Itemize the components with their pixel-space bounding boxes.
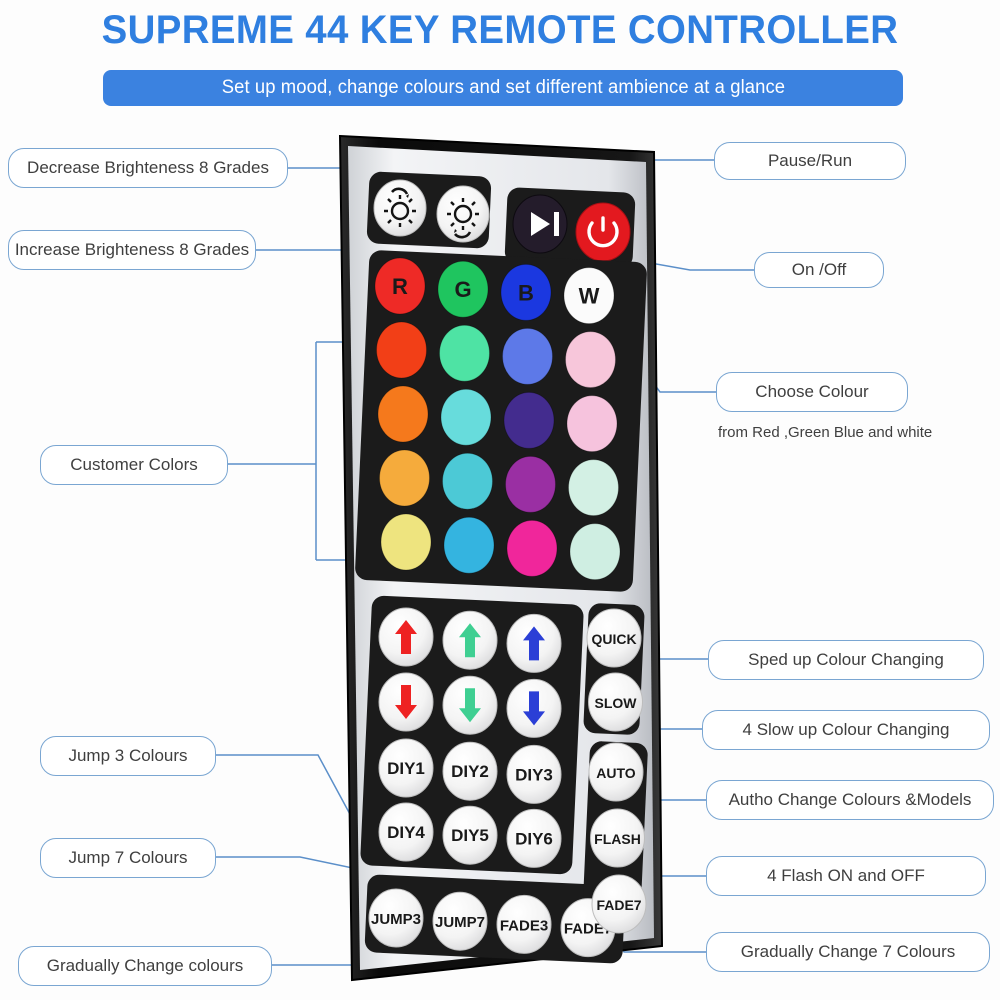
key-label: FLASH: [594, 831, 641, 847]
key-label: SLOW: [595, 695, 638, 711]
key-side-flash[interactable]: FLASH: [591, 809, 645, 867]
remote-controller: RGBW DIY1DIY2DIY3DIY4DIY5DIY6JUMP3JUMP7F…: [318, 118, 678, 998]
color-key-4-2[interactable]: [507, 520, 557, 576]
key-label: FADE3: [500, 917, 548, 934]
callout-jump-7-colours[interactable]: Jump 7 Colours: [40, 838, 216, 878]
key-side-auto[interactable]: AUTO: [589, 743, 643, 801]
key-brightness-down[interactable]: [437, 186, 489, 242]
color-key-label: W: [579, 284, 600, 309]
key-label: DIY6: [515, 829, 553, 848]
key-diy4[interactable]: DIY4: [379, 803, 433, 861]
key-slow[interactable]: SLOW: [589, 673, 643, 731]
callout-choose-colour[interactable]: Choose Colour: [716, 372, 908, 412]
color-key-1-1[interactable]: [440, 325, 490, 381]
key-quick[interactable]: QUICK: [587, 609, 641, 667]
callout-label: Gradually Change colours: [47, 956, 244, 976]
callout-label: Increase Brighteness 8 Grades: [15, 240, 249, 260]
key-down-red[interactable]: [379, 673, 433, 731]
color-key-label: B: [518, 280, 534, 305]
color-key-1-0[interactable]: [377, 322, 427, 378]
callout-increase-brightness[interactable]: Increase Brighteness 8 Grades: [8, 230, 256, 270]
color-key-3-2[interactable]: [506, 456, 556, 512]
key-diy5[interactable]: DIY5: [443, 806, 497, 864]
choose-colour-note: from Red ,Green Blue and white: [718, 424, 932, 441]
callout-label: Pause/Run: [768, 151, 852, 171]
color-key-2-3[interactable]: [567, 396, 617, 452]
callout-label: Decrease Brighteness 8 Grades: [27, 158, 269, 178]
key-label: AUTO: [596, 765, 636, 781]
callout-label: Autho Change Colours &Models: [729, 790, 972, 810]
color-key-4-0[interactable]: [381, 514, 431, 570]
callout-label: Jump 3 Colours: [68, 746, 187, 766]
page-title: SUPREME 44 KEY REMOTE CONTROLLER: [20, 8, 980, 53]
color-key-2-0[interactable]: [378, 386, 428, 442]
color-key-r[interactable]: R: [375, 258, 425, 314]
color-key-2-1[interactable]: [441, 389, 491, 445]
key-diy3[interactable]: DIY3: [507, 745, 561, 803]
key-label: FADE7: [596, 897, 641, 913]
key-down-green[interactable]: [443, 676, 497, 734]
key-label: DIY2: [451, 762, 489, 781]
color-key-1-2[interactable]: [503, 328, 553, 384]
key-side-fade7[interactable]: FADE7: [592, 875, 646, 933]
callout-auto-change[interactable]: Autho Change Colours &Models: [706, 780, 994, 820]
color-key-3-1[interactable]: [443, 453, 493, 509]
callout-label: Gradually Change 7 Colours: [741, 942, 956, 962]
callout-decrease-brightness[interactable]: Decrease Brighteness 8 Grades: [8, 148, 288, 188]
callout-label: Customer Colors: [70, 455, 198, 475]
key-diy6[interactable]: DIY6: [507, 809, 561, 867]
color-key-g[interactable]: G: [438, 261, 488, 317]
callout-label: Choose Colour: [755, 382, 868, 402]
color-key-b[interactable]: B: [501, 264, 551, 320]
key-power[interactable]: [576, 203, 630, 261]
key-label: DIY4: [387, 823, 425, 842]
callout-label: Jump 7 Colours: [68, 848, 187, 868]
key-diy1[interactable]: DIY1: [379, 739, 433, 797]
power-pad: [504, 187, 635, 269]
callout-label: Sped up Colour Changing: [748, 650, 944, 670]
callout-speed-up[interactable]: Sped up Colour Changing: [708, 640, 984, 680]
key-label: JUMP3: [371, 911, 421, 928]
callout-slow-up[interactable]: 4 Slow up Colour Changing: [702, 710, 990, 750]
subtitle-banner: Set up mood, change colours and set diff…: [103, 70, 903, 106]
key-label: DIY5: [451, 826, 489, 845]
color-key-1-3[interactable]: [566, 332, 616, 388]
key-up-red[interactable]: [379, 608, 433, 666]
key-jump3[interactable]: JUMP3: [369, 889, 423, 947]
key-diy2[interactable]: DIY2: [443, 742, 497, 800]
color-key-4-1[interactable]: [444, 517, 494, 573]
color-key-label: R: [392, 274, 408, 299]
key-up-blue[interactable]: [507, 614, 561, 672]
callout-customer-colors[interactable]: Customer Colors: [40, 445, 228, 485]
callout-gradually-7[interactable]: Gradually Change 7 Colours: [706, 932, 990, 972]
callout-on-off[interactable]: On /Off: [754, 252, 884, 288]
color-key-2-2[interactable]: [504, 392, 554, 448]
key-brightness-up[interactable]: [374, 180, 426, 236]
key-label: DIY3: [515, 765, 553, 784]
key-fade3[interactable]: FADE3: [497, 895, 551, 953]
infographic-canvas: SUPREME 44 KEY REMOTE CONTROLLER Set up …: [0, 0, 1000, 1000]
key-label: QUICK: [591, 631, 636, 647]
key-play-pause[interactable]: [513, 195, 567, 253]
callout-label: 4 Flash ON and OFF: [767, 866, 925, 886]
key-label: JUMP7: [435, 914, 485, 931]
key-up-green[interactable]: [443, 611, 497, 669]
callout-flash-on-off[interactable]: 4 Flash ON and OFF: [706, 856, 986, 896]
callout-label: On /Off: [792, 260, 847, 280]
callout-jump-3-colours[interactable]: Jump 3 Colours: [40, 736, 216, 776]
key-jump7[interactable]: JUMP7: [433, 892, 487, 950]
callout-gradually-change-colours[interactable]: Gradually Change colours: [18, 946, 272, 986]
subtitle-text: Set up mood, change colours and set diff…: [221, 77, 784, 99]
key-down-blue[interactable]: [507, 679, 561, 737]
key-label: DIY1: [387, 759, 425, 778]
color-key-w[interactable]: W: [564, 268, 614, 324]
callout-label: 4 Slow up Colour Changing: [743, 720, 950, 740]
color-key-label: G: [454, 277, 471, 302]
brightness-pad: [366, 171, 491, 248]
color-key-4-3[interactable]: [570, 524, 620, 580]
color-key-3-3[interactable]: [569, 460, 619, 516]
callout-pause-run[interactable]: Pause/Run: [714, 142, 906, 180]
color-key-3-0[interactable]: [380, 450, 430, 506]
